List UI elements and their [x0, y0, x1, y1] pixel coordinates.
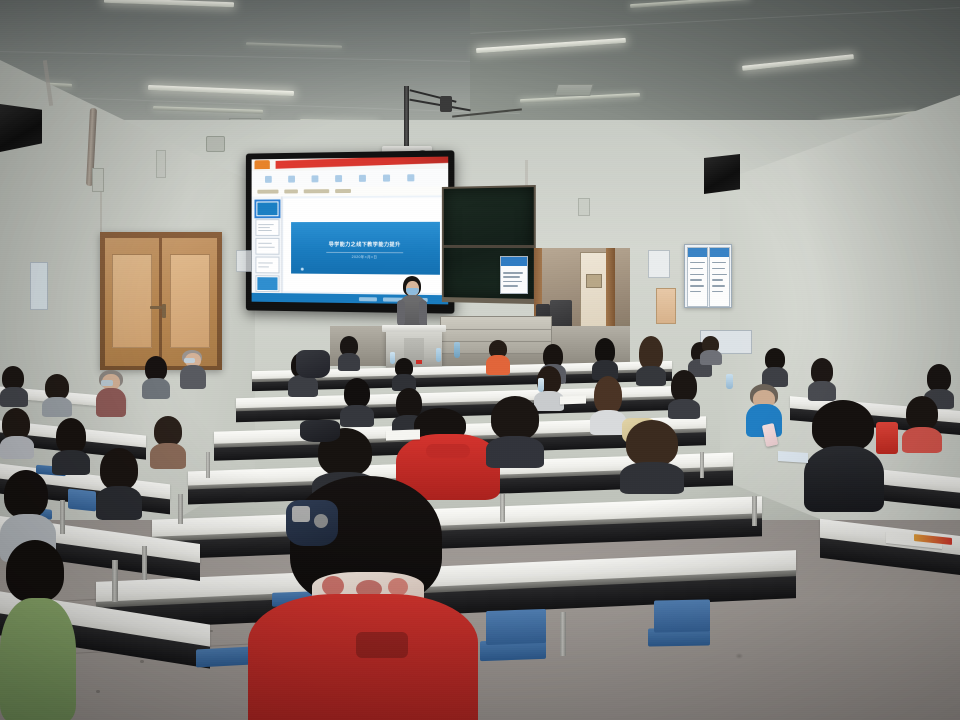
- podium-indicator: [416, 360, 422, 364]
- handout-sheet: [386, 429, 420, 440]
- attendee: [804, 400, 884, 510]
- desk-leg: [560, 612, 566, 656]
- slide-title-text: 导学能力之线下教学能力提升: [291, 241, 440, 248]
- poster-line: [690, 291, 701, 293]
- attendee: [142, 356, 170, 398]
- slide-thumbnail[interactable]: [255, 257, 279, 274]
- attendee-hair: [594, 376, 622, 414]
- attendee-body: [96, 486, 142, 520]
- attendee-hair: [56, 418, 86, 454]
- ribbon-icon[interactable]: [265, 176, 272, 183]
- attendee-body: [96, 388, 126, 417]
- coat-detail: [356, 632, 408, 658]
- poster-line: [712, 262, 726, 264]
- attendee: [808, 358, 836, 400]
- wall-poster-pair: [684, 244, 732, 308]
- presenter-arm: [397, 300, 405, 326]
- statusbar-item: [359, 297, 377, 301]
- handout-sheet: [560, 396, 586, 405]
- slide-subtitle-text: 2020年×月×日: [291, 255, 440, 261]
- notice-line: [503, 285, 518, 287]
- attendee-body: [42, 397, 72, 417]
- poster-line: [690, 262, 705, 264]
- attendee-body: [486, 436, 544, 468]
- attendee-body: [0, 598, 76, 720]
- attendee: [96, 448, 142, 518]
- poster-line: [712, 268, 725, 270]
- attendee-body: [636, 366, 666, 386]
- attendee-hair: [6, 540, 64, 602]
- ribbon-icon[interactable]: [288, 176, 295, 183]
- slide-thumbnail[interactable]: [255, 200, 279, 217]
- slide-thumbnail[interactable]: [255, 275, 279, 292]
- attendee: [592, 338, 618, 378]
- bag-pattern: [314, 514, 328, 528]
- thumbnail-preview: [257, 202, 277, 215]
- door-window: [586, 274, 602, 288]
- desk-leg: [700, 452, 704, 478]
- chair: [486, 609, 546, 645]
- attendee: [700, 336, 722, 364]
- attendee: [340, 378, 374, 426]
- thumbnail-line: [258, 227, 270, 228]
- attendee-body: [668, 399, 700, 419]
- door-leaf-right[interactable]: [162, 238, 217, 366]
- poster-line: [690, 268, 703, 270]
- handout-sheet: [778, 451, 808, 463]
- wall-sensor: [578, 198, 590, 216]
- attendee: [0, 408, 34, 458]
- attendee-body: [902, 427, 942, 453]
- attendee: [668, 370, 700, 418]
- door-panel: [112, 254, 152, 348]
- slide-thumbnail[interactable]: [255, 238, 279, 255]
- attendee: [0, 366, 28, 406]
- toolbar-item[interactable]: [304, 189, 329, 193]
- poster-line: [690, 285, 704, 287]
- attendee: [762, 348, 788, 386]
- attendee-body: [340, 405, 374, 427]
- poster-line: [712, 291, 723, 293]
- notice-line: [503, 276, 520, 278]
- water-bottle: [726, 374, 733, 389]
- attendee-hair: [154, 416, 182, 446]
- desk-leg: [60, 500, 65, 534]
- attendee: [42, 374, 72, 416]
- wall-note: [648, 250, 670, 278]
- notice-line: [503, 281, 522, 283]
- poster-line: [712, 274, 727, 276]
- wall-poster: [709, 247, 730, 307]
- projector-pole: [404, 86, 409, 150]
- lecture-hall-photo: 导学能力之线下教学能力提升 2020年×月×日: [0, 0, 960, 720]
- attendee: [620, 420, 684, 492]
- desk-leg: [142, 546, 147, 580]
- attendee-body: [180, 365, 206, 389]
- thumbnail-line: [258, 230, 271, 231]
- attendee-body: [338, 353, 360, 371]
- wall-note: [30, 262, 48, 310]
- desk-leg: [500, 494, 505, 522]
- desk-leg: [206, 452, 210, 478]
- attendee: [338, 336, 360, 370]
- attendee-body: [52, 450, 90, 475]
- thermos-cup: [876, 422, 898, 454]
- notice-board: [500, 256, 528, 294]
- attendee-body: [804, 446, 884, 512]
- attendee: [902, 396, 942, 452]
- bag: [296, 350, 330, 378]
- cabinet-line: [441, 329, 551, 330]
- ribbon-icon[interactable]: [359, 175, 366, 182]
- floor-speck: [140, 660, 144, 663]
- slide-bullet-dot: [301, 268, 304, 271]
- slide-thumbnail[interactable]: [255, 219, 279, 236]
- notice-header: [501, 257, 527, 266]
- attendee: [636, 336, 666, 384]
- ribbon-icon[interactable]: [407, 174, 414, 181]
- slide-divider: [326, 252, 403, 253]
- attendee-hair: [4, 470, 48, 518]
- desk-leg: [752, 496, 757, 526]
- bag-pattern: [292, 506, 310, 522]
- bag: [300, 420, 340, 442]
- attendee: [0, 540, 76, 720]
- poster-header: [710, 248, 729, 257]
- attendee-hair: [812, 400, 874, 452]
- face-mask: [406, 288, 419, 295]
- podium-surface: [382, 325, 446, 332]
- door-leaf-left[interactable]: [105, 238, 159, 366]
- thumbnail-line: [258, 224, 273, 225]
- ribbon-icon[interactable]: [383, 175, 390, 182]
- attendee-hair: [639, 336, 663, 370]
- attendee-body: [0, 436, 34, 459]
- attendee: [96, 370, 126, 416]
- attendee-body: [142, 378, 170, 399]
- face-mask: [101, 380, 113, 386]
- thumbnail-line: [258, 243, 271, 244]
- thumbnail-line: [258, 247, 274, 248]
- notice-line: [503, 272, 522, 274]
- cable-junction-box: [440, 96, 452, 112]
- wall-note: [236, 250, 252, 272]
- attendee: [486, 340, 510, 374]
- attendee-hair: [626, 420, 678, 466]
- attendee-body: [288, 375, 318, 397]
- chair: [196, 647, 252, 668]
- door-handle[interactable]: [162, 304, 166, 318]
- attendee: [150, 416, 186, 468]
- thumbnail-line: [258, 266, 269, 267]
- poster-header: [688, 248, 707, 257]
- ribbon-icon[interactable]: [312, 175, 319, 182]
- attendee-hair: [927, 364, 951, 392]
- wall-cabinet: [656, 288, 676, 324]
- wall-switch: [156, 150, 166, 178]
- chair: [68, 489, 96, 512]
- thumbnail-line: [258, 262, 272, 263]
- ribbon-icon[interactable]: [335, 175, 342, 182]
- hoodie-hood: [426, 444, 470, 458]
- wall-poster: [687, 247, 708, 307]
- thumbnail-preview: [257, 277, 277, 290]
- desk-leg: [178, 494, 183, 524]
- poster-line: [690, 274, 704, 276]
- scarf-pattern: [322, 576, 344, 596]
- attendee-hair: [491, 396, 539, 440]
- water-bottle: [538, 378, 544, 392]
- attendee-body: [620, 462, 684, 494]
- wall-box: [206, 136, 225, 152]
- attendee-body: [486, 355, 510, 375]
- poster-line: [712, 285, 726, 287]
- toolbar-item[interactable]: [257, 190, 278, 194]
- face-mask: [184, 358, 195, 363]
- floor-speck: [210, 630, 213, 632]
- door-panel: [170, 254, 210, 348]
- toolbar-item[interactable]: [335, 189, 351, 193]
- slide-title-card: 导学能力之线下教学能力提升 2020年×月×日: [291, 222, 440, 275]
- chalkboard-divider: [444, 245, 534, 248]
- door-handle[interactable]: [150, 306, 162, 309]
- attendee-hair: [100, 448, 138, 490]
- attendee: [486, 396, 544, 466]
- wall-switch: [92, 168, 104, 192]
- presenter-arm: [419, 300, 427, 326]
- attendee-body: [700, 350, 722, 365]
- water-bottle: [436, 348, 441, 362]
- attendee: [52, 418, 90, 474]
- floor-speck: [96, 690, 100, 693]
- chair: [654, 600, 710, 633]
- poster-line: [712, 279, 724, 281]
- toolbar-item[interactable]: [284, 189, 298, 193]
- app-tab-icon[interactable]: [254, 160, 269, 169]
- attendee-body: [0, 387, 28, 407]
- attendee-hair: [671, 370, 697, 402]
- attendee-hair: [906, 396, 938, 430]
- desk-leg: [112, 560, 118, 602]
- attendee-body: [808, 381, 836, 401]
- poster-line: [690, 279, 702, 281]
- attendee-foreground-red-coat: [248, 476, 478, 720]
- attendee-hair: [344, 378, 370, 408]
- slide-thumbnail-panel[interactable]: [252, 196, 283, 293]
- speaker-right: [704, 154, 740, 194]
- attendee-body: [150, 443, 186, 469]
- ceiling-vent: [554, 84, 593, 96]
- attendee: [392, 358, 416, 390]
- attendee: [180, 350, 206, 388]
- water-bottle: [454, 342, 460, 358]
